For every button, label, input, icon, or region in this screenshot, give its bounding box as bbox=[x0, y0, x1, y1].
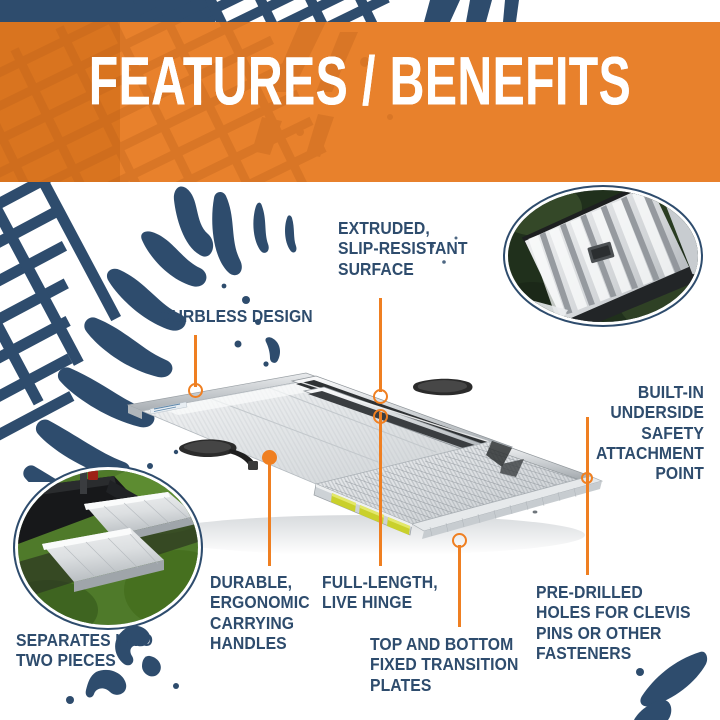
leader-line-extruded-surface bbox=[379, 298, 382, 392]
leader-line-curbless-design bbox=[194, 335, 197, 387]
callout-separates-into-two-pieces: SEPARATES INTO TWO PIECES bbox=[16, 630, 153, 671]
leader-line-live-hinge bbox=[379, 412, 382, 566]
leader-dot-live-hinge bbox=[373, 409, 388, 424]
leader-dot-extruded-surface bbox=[373, 389, 388, 404]
leader-line-carrying-handles bbox=[268, 460, 271, 566]
callout-full-length-live-hinge: FULL-LENGTH, LIVE HINGE bbox=[322, 572, 438, 613]
leader-line-transition-plates bbox=[458, 545, 461, 627]
callout-extruded-slip-resistant-surface: EXTRUDED, SLIP-RESISTANT SURFACE bbox=[338, 218, 468, 279]
page-title: FEATURES / BENEFITS bbox=[50, 0, 669, 178]
leader-dot-transition-plates bbox=[452, 533, 467, 548]
infographic-poster: FEATURES / BENEFITS bbox=[0, 0, 720, 720]
callout-curbless-design: CURBLESS DESIGN bbox=[160, 306, 313, 326]
callout-top-and-bottom-fixed-transition-plates: TOP AND BOTTOM FIXED TRANSITION PLATES bbox=[370, 634, 518, 695]
callout-built-in-underside-safety-attachment-point: BUILT-IN UNDERSIDE SAFETY ATTACHMENT POI… bbox=[596, 382, 704, 483]
leader-dot-attachment-point bbox=[581, 472, 593, 484]
callout-durable-ergonomic-carrying-handles: DURABLE, ERGONOMIC CARRYING HANDLES bbox=[210, 572, 310, 653]
inset-photo-separates-two-pieces bbox=[18, 470, 198, 625]
leader-line-pre-drilled-holes bbox=[586, 487, 589, 575]
callout-pre-drilled-holes-for-clevis-pins-or-other-fasteners: PRE-DRILLED HOLES FOR CLEVIS PINS OR OTH… bbox=[536, 582, 691, 663]
leader-dot-carrying-handles bbox=[262, 450, 277, 465]
inset-photo-underside-attachment bbox=[508, 190, 698, 322]
leader-dot-curbless-design bbox=[188, 383, 203, 398]
